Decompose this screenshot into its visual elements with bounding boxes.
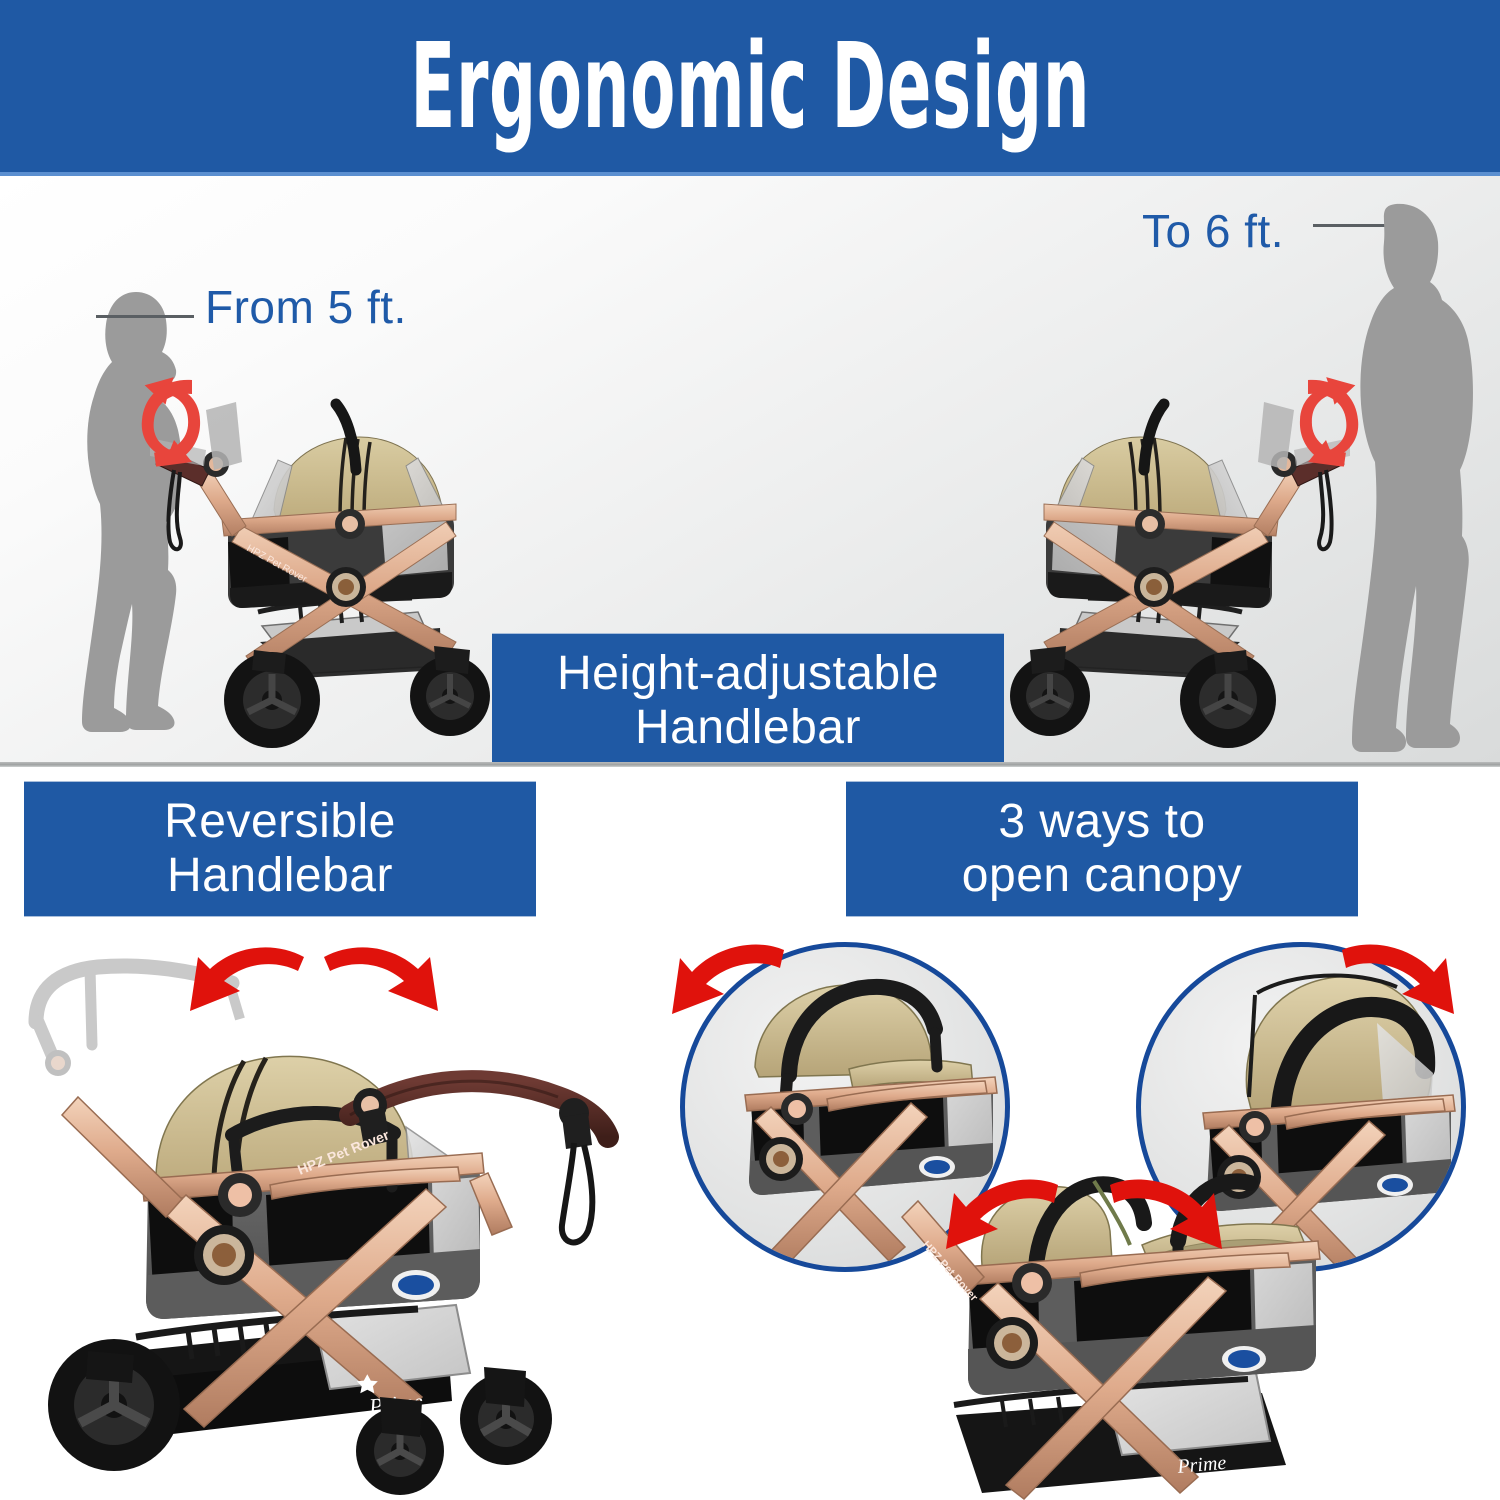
- header-band: Ergonomic Design: [0, 0, 1500, 172]
- height-adjustable-panel: From 5 ft.: [0, 176, 1500, 762]
- banner-open-canopy: 3 ways to open canopy: [846, 782, 1358, 916]
- left-measure-tick: [96, 315, 194, 318]
- male-silhouette: [1332, 196, 1482, 756]
- banner-canopy-line2: open canopy: [962, 849, 1242, 903]
- left-measure-label: From 5 ft.: [205, 280, 407, 334]
- model-logo: Prime: [1176, 1452, 1228, 1478]
- rotate-arrow-icon: [940, 1167, 1060, 1267]
- handlebar-joint: [559, 1098, 592, 1149]
- banner-height-line1: Height-adjustable: [557, 647, 939, 701]
- rotate-arrow-icon: [1340, 932, 1460, 1032]
- rotate-arrow-icon: [320, 935, 450, 1035]
- banner-height-line2: Handlebar: [635, 701, 861, 755]
- model-logo-text: Prime: [1176, 1452, 1228, 1478]
- infographic-root: Ergonomic Design From 5 ft.: [0, 0, 1500, 1500]
- page-title: Ergonomic Design: [410, 27, 1090, 145]
- rotate-arrow-icon: [1108, 1167, 1228, 1267]
- brand-tag-icon: [392, 1270, 440, 1300]
- banner-canopy-line1: 3 ways to: [998, 795, 1205, 849]
- banner-reversible-line2: Handlebar: [167, 849, 393, 903]
- open-canopy-panel: HPZ Pet Rover Prime 3 ways to open canop…: [640, 767, 1500, 1500]
- rotate-arrow-icon: [126, 362, 216, 482]
- rotate-arrow-icon: [178, 935, 308, 1035]
- rotate-arrow-icon: [666, 932, 786, 1032]
- banner-reversible-handlebar: Reversible Handlebar: [24, 782, 536, 916]
- banner-reversible-line1: Reversible: [164, 795, 396, 849]
- reversible-handlebar-panel: HPZ Pet Rover Prime: [0, 767, 640, 1500]
- brand-tag-icon: [1222, 1346, 1266, 1372]
- right-measure-label: To 6 ft.: [1142, 204, 1284, 258]
